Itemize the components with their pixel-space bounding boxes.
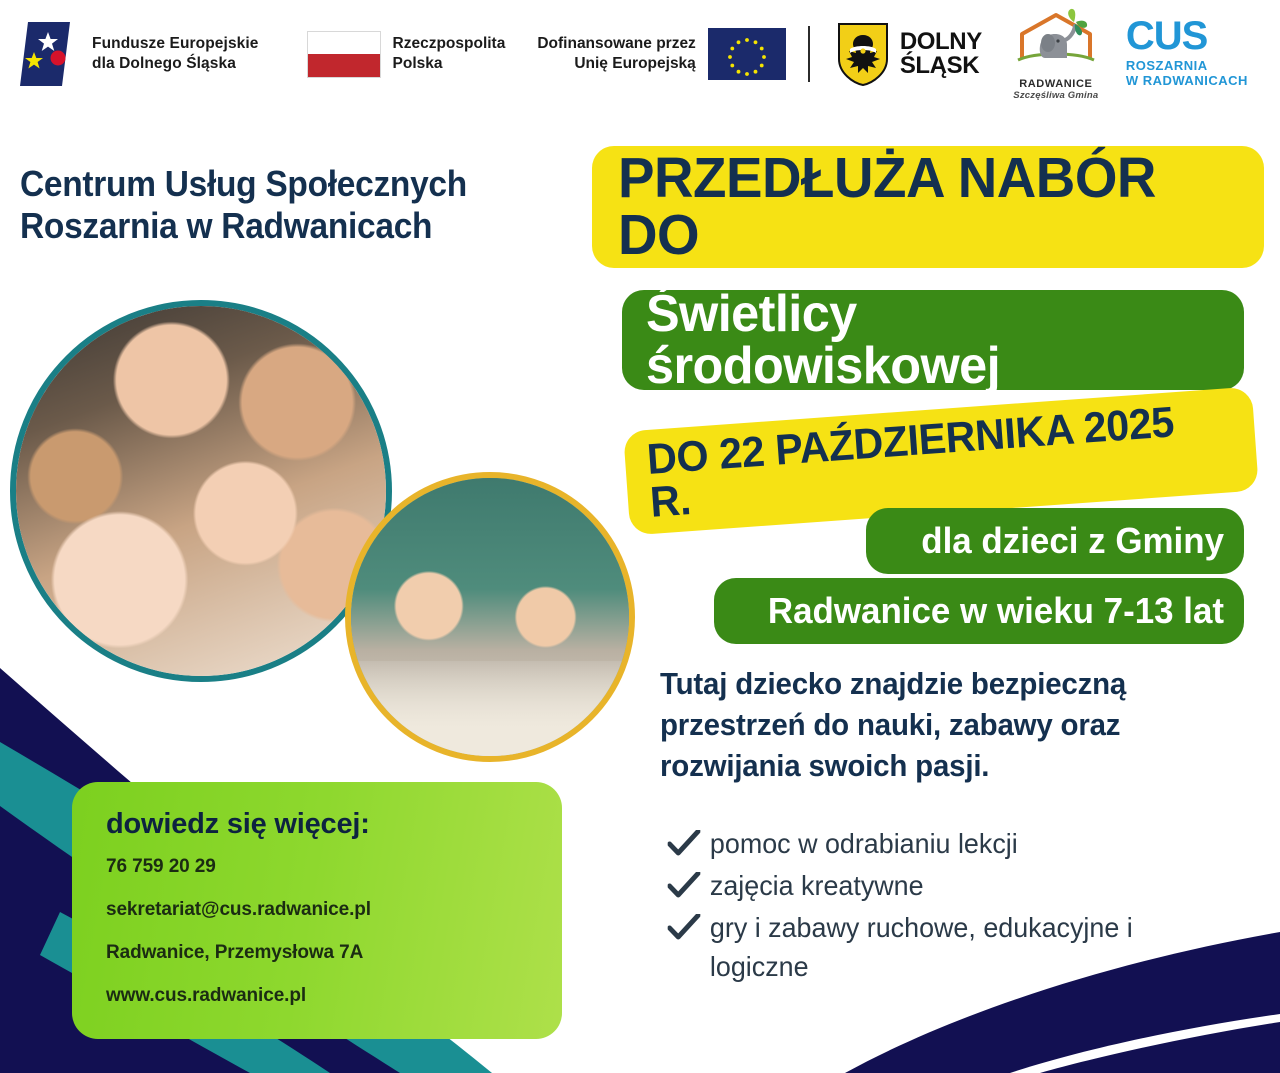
description-line-2: przestrzeń do nauki, zabawy oraz [660,704,1192,745]
radwanice-label: RADWANICE [1008,78,1104,90]
photo-laughing-children-image [16,306,386,676]
contact-website[interactable]: www.cus.radwanice.pl [106,986,562,1007]
eu-flag-icon [708,28,786,80]
photo-children-with-books-image [351,478,629,756]
headline-text: PRZEDŁUŻA NABÓR DO [618,150,1213,264]
contact-card: dowiedz się więcej: 76 759 20 29 sekreta… [72,782,562,1039]
logo-strip: Fundusze Europejskie dla Dolnego Śląska … [0,0,1280,108]
audience-banner-line-2: Radwanice w wieku 7-13 lat [714,578,1244,644]
description-paragraph: Tutaj dziecko znajdzie bezpieczną przest… [660,663,1192,787]
logo-cus: CUS ROSZARNIA W RADWANICACH [1126,19,1248,88]
logo-divider [808,26,810,82]
ds-line-2: ŚLĄSK [900,54,982,78]
benefit-text: pomoc w odrabianiu lekcji [710,828,1018,859]
eu-line-2: Unię Europejską [537,54,695,74]
contact-title: dowiedz się więcej: [106,808,562,841]
benefit-text: gry i zabawy ruchowe, edukacyjne i logic… [710,912,1133,983]
program-banner: Świetlicy środowiskowej [622,290,1244,390]
fe-line-2: dla Dolnego Śląska [92,54,259,74]
program-text: Świetlicy środowiskowej [646,288,1203,392]
wave-white-gap-right [1010,1014,1280,1073]
photo-laughing-children [10,300,392,682]
check-icon [668,830,701,858]
list-item: zajęcia kreatywne [660,866,1226,906]
description-line-3: rozwijania swoich pasji. [660,745,1192,786]
cus-line-2: W RADWANICACH [1126,73,1248,89]
benefits-list: pomoc w odrabianiu lekcji zajęcia kreaty… [660,824,1250,989]
dolny-slask-label: DOLNY ŚLĄSK [900,30,982,77]
audience-text-line-2: Radwanice w wieku 7-13 lat [749,593,1224,629]
photo-children-with-books [345,472,635,762]
fe-line-1: Fundusze Europejskie [92,34,259,54]
organization-title-line-2: Roszarnia w Radwanicach [20,205,550,247]
logo-rzeczpospolita-polska: Rzeczpospolita Polska [307,31,506,78]
benefit-text: zajęcia kreatywne [710,870,924,901]
logo-dolny-slask: DOLNY ŚLĄSK [836,21,982,87]
dolny-slask-coat-of-arms-icon [836,21,890,87]
list-item: gry i zabawy ruchowe, edukacyjne i logic… [660,908,1226,988]
dofinansowane-label: Dofinansowane przez Unię Europejską [537,34,695,74]
organization-title-line-1: Centrum Usług Społecznych [20,163,550,205]
ds-line-1: DOLNY [900,30,982,54]
audience-text-line-1: dla dzieci z Gminy [896,523,1224,559]
cus-line-1: ROSZARNIA [1126,58,1248,74]
logo-radwanice: RADWANICE Szczęśliwa Gmina [1008,8,1104,101]
radwanice-house-elephant-icon [1008,8,1104,72]
eu-line-1: Dofinansowane przez [537,34,695,54]
wave-navy-right-lower [1040,1022,1280,1073]
radwanice-tagline: Szczęśliwa Gmina [1008,90,1104,101]
contact-phone[interactable]: 76 759 20 29 [106,857,562,878]
poland-flag-icon [307,31,381,78]
poster-root: Fundusze Europejskie dla Dolnego Śląska … [0,0,1280,1073]
check-icon [668,872,701,900]
description-line-1: Tutaj dziecko znajdzie bezpieczną [660,663,1192,704]
pl-line-2: Polska [393,54,506,74]
deadline-text: DO 22 PAŹDZIERNIKA 2025 R. [646,399,1213,525]
headline-banner: PRZEDŁUŻA NABÓR DO [592,146,1264,268]
contact-address: Radwanice, Przemysłowa 7A [106,943,562,964]
pl-line-1: Rzeczpospolita [393,34,506,54]
cus-acronym: CUS [1126,19,1248,54]
list-item: pomoc w odrabianiu lekcji [660,824,1226,864]
logo-dofinansowane-ue: Dofinansowane przez Unię Europejską [537,28,785,80]
check-icon [668,914,701,942]
rzeczpospolita-label: Rzeczpospolita Polska [393,34,506,74]
fundusze-europejskie-icon [18,18,80,90]
fundusze-europejskie-label: Fundusze Europejskie dla Dolnego Śląska [92,34,259,74]
logo-fundusze-europejskie: Fundusze Europejskie dla Dolnego Śląska [18,18,259,90]
contact-email[interactable]: sekretariat@cus.radwanice.pl [106,900,562,921]
organization-title: Centrum Usług Społecznych Roszarnia w Ra… [20,163,550,247]
audience-banner-line-1: dla dzieci z Gminy [866,508,1244,574]
